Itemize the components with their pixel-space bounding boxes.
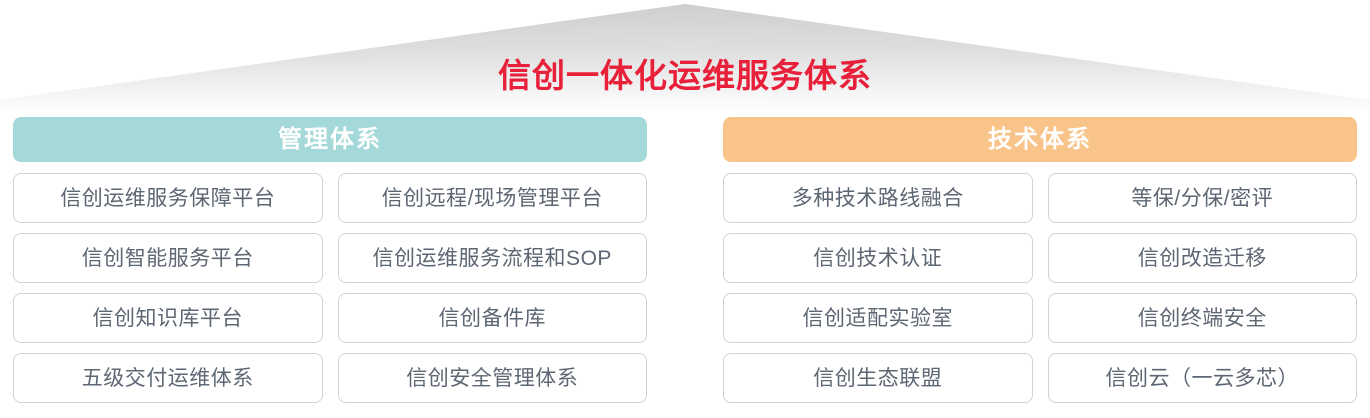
cell-item[interactable]: 五级交付运维体系 bbox=[13, 353, 323, 403]
cell-item[interactable]: 信创运维服务流程和SOP bbox=[338, 233, 648, 283]
cell-grid-management: 信创运维服务保障平台 信创远程/现场管理平台 信创智能服务平台 信创运维服务流程… bbox=[13, 173, 647, 403]
cell-item[interactable]: 信创适配实验室 bbox=[723, 293, 1033, 343]
group-management: 管理体系 信创运维服务保障平台 信创远程/现场管理平台 信创智能服务平台 信创运… bbox=[13, 117, 647, 403]
cell-item[interactable]: 信创终端安全 bbox=[1048, 293, 1358, 343]
cell-item[interactable]: 信创安全管理体系 bbox=[338, 353, 648, 403]
cell-item[interactable]: 信创远程/现场管理平台 bbox=[338, 173, 648, 223]
cell-item[interactable]: 信创改造迁移 bbox=[1048, 233, 1358, 283]
group-header-management: 管理体系 bbox=[13, 117, 647, 162]
cell-grid-technology: 多种技术路线融合 等保/分保/密评 信创技术认证 信创改造迁移 信创适配实验室 … bbox=[723, 173, 1357, 403]
cell-item[interactable]: 信创知识库平台 bbox=[13, 293, 323, 343]
cell-item[interactable]: 信创运维服务保障平台 bbox=[13, 173, 323, 223]
cell-item[interactable]: 信创生态联盟 bbox=[723, 353, 1033, 403]
pillar-groups: 管理体系 信创运维服务保障平台 信创远程/现场管理平台 信创智能服务平台 信创运… bbox=[0, 117, 1370, 403]
cell-item[interactable]: 信创云（一云多芯） bbox=[1048, 353, 1358, 403]
cell-item[interactable]: 信创备件库 bbox=[338, 293, 648, 343]
cell-item[interactable]: 信创技术认证 bbox=[723, 233, 1033, 283]
group-header-technology: 技术体系 bbox=[723, 117, 1357, 162]
cell-item[interactable]: 信创智能服务平台 bbox=[13, 233, 323, 283]
cell-item[interactable]: 多种技术路线融合 bbox=[723, 173, 1033, 223]
page-title: 信创一体化运维服务体系 bbox=[0, 56, 1370, 96]
cell-item[interactable]: 等保/分保/密评 bbox=[1048, 173, 1358, 223]
diagram-canvas: 信创一体化运维服务体系 管理体系 信创运维服务保障平台 信创远程/现场管理平台 … bbox=[0, 0, 1370, 418]
group-technology: 技术体系 多种技术路线融合 等保/分保/密评 信创技术认证 信创改造迁移 信创适… bbox=[723, 117, 1357, 403]
